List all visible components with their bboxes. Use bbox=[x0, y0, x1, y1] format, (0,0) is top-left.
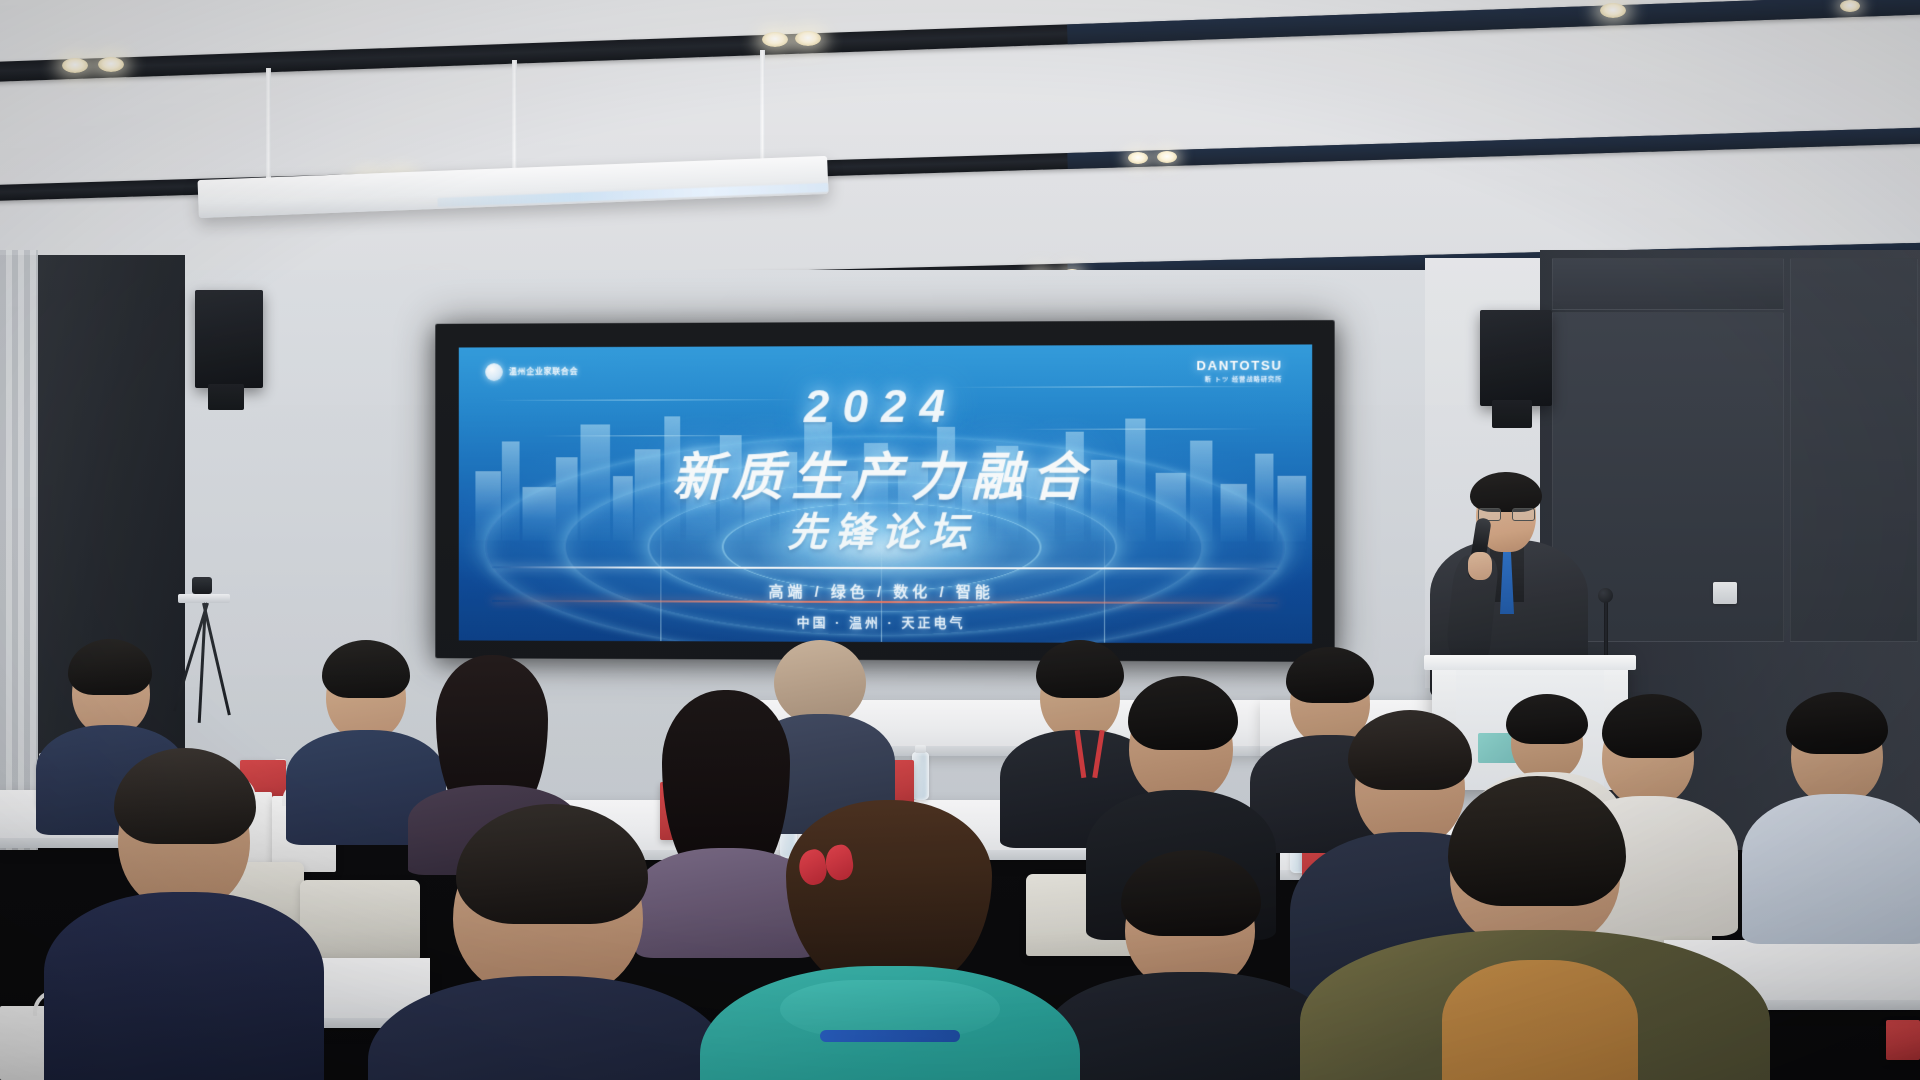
tripod-head bbox=[178, 594, 230, 603]
ceiling-spotlight bbox=[62, 58, 88, 73]
ceiling-spotlight bbox=[1840, 0, 1860, 12]
person-hair bbox=[114, 748, 256, 844]
drawstring bbox=[820, 1030, 960, 1042]
red-gift-box[interactable] bbox=[1886, 1020, 1920, 1060]
camera-body bbox=[192, 577, 212, 594]
pendant-rod bbox=[512, 60, 517, 172]
audience-member bbox=[44, 760, 324, 1080]
slat-blue-reflection bbox=[1067, 0, 1920, 44]
ceiling-spotlight bbox=[795, 31, 821, 46]
left-wall-speaker bbox=[195, 290, 263, 388]
logo-circle-emblem-icon bbox=[486, 363, 504, 381]
audience-member bbox=[1045, 860, 1335, 1080]
slide-subtitle: 先锋论坛 bbox=[459, 500, 1312, 559]
led-screen: 温州企业家联合会 DANTOTSU 断 トツ 经营战略研究所 2024 新质生产… bbox=[459, 344, 1312, 643]
water-bottle[interactable] bbox=[912, 752, 929, 800]
person-hair bbox=[68, 639, 152, 695]
ceiling-spotlight bbox=[1128, 152, 1148, 164]
led-screen-frame: 温州企业家联合会 DANTOTSU 断 トツ 经营战略研究所 2024 新质生产… bbox=[435, 320, 1334, 662]
ceiling-spotlight bbox=[98, 57, 124, 72]
slide-location: 中国 · 温州 · 天正电气 bbox=[459, 611, 1312, 633]
ceiling-spotlight bbox=[1157, 151, 1177, 163]
conference-hall-scene: 温州企业家联合会 DANTOTSU 断 トツ 经营战略研究所 2024 新质生产… bbox=[0, 0, 1920, 1080]
glasses-lens bbox=[1512, 508, 1535, 521]
slat-blue-reflection bbox=[1067, 127, 1920, 169]
person-torso bbox=[1045, 972, 1335, 1080]
right-speaker-mount bbox=[1492, 400, 1532, 428]
slide-logo-right: DANTOTSU 断 トツ 经营战略研究所 bbox=[1196, 358, 1282, 383]
lectern-top bbox=[1424, 655, 1636, 670]
person-torso bbox=[368, 976, 728, 1080]
person-hair bbox=[1286, 647, 1374, 703]
slide-title: 新质生产力融合 bbox=[459, 434, 1312, 510]
slide-year: 2024 bbox=[459, 377, 1312, 433]
person-hair bbox=[1602, 694, 1702, 758]
wall-switch-plate[interactable] bbox=[1713, 582, 1737, 604]
hoodie-front-panel bbox=[1442, 960, 1638, 1080]
presenter-hand bbox=[1468, 552, 1492, 580]
slide-logo-left: 温州企业家联合会 bbox=[486, 363, 579, 381]
person-hair bbox=[1786, 692, 1888, 754]
logo-right-name: DANTOTSU bbox=[1196, 358, 1282, 373]
wall-panel bbox=[1790, 258, 1918, 642]
audience-member bbox=[1300, 790, 1770, 1080]
ceiling-slat bbox=[0, 0, 1920, 82]
logo-right-subtitle: 断 トツ 经营战略研究所 bbox=[1196, 374, 1282, 383]
pendant-rod bbox=[266, 68, 271, 178]
wall-panel bbox=[1552, 258, 1784, 310]
left-speaker-mount bbox=[208, 384, 244, 410]
right-wall-speaker bbox=[1480, 310, 1552, 406]
audience-member bbox=[368, 820, 728, 1080]
ceiling-spotlight bbox=[762, 32, 788, 47]
person-hair bbox=[1128, 676, 1238, 750]
bottle-cap bbox=[915, 745, 926, 753]
person-hair bbox=[456, 804, 648, 924]
logo-left-label: 温州企业家联合会 bbox=[509, 366, 578, 377]
ceiling-spotlight bbox=[1600, 3, 1626, 18]
left-ribbed-column bbox=[0, 250, 38, 850]
person-hair bbox=[1348, 710, 1472, 790]
pendant-tube bbox=[438, 183, 829, 207]
person-hair bbox=[322, 640, 410, 698]
person-hair bbox=[1121, 850, 1261, 936]
person-hair bbox=[786, 800, 992, 990]
slide-tagline: 高端 / 绿色 / 数化 / 智能 bbox=[459, 580, 1312, 603]
person-torso bbox=[44, 892, 324, 1080]
audience-member bbox=[700, 800, 1080, 1080]
presenter-hair bbox=[1470, 472, 1542, 512]
person-hair bbox=[1448, 776, 1626, 906]
pendant-rod bbox=[760, 50, 765, 166]
